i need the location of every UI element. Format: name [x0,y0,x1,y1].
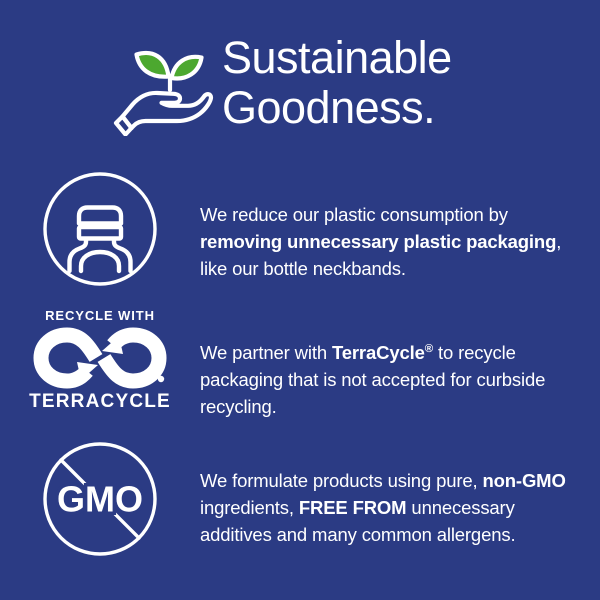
feature-row-non-gmo: GMO We formulate products using pure, no… [0,438,600,566]
header: Sustainable Goodness. [0,24,600,142]
row-icon-cell [0,168,200,288]
text-part: We partner with [200,342,332,363]
page-title: Sustainable Goodness. [222,33,452,133]
feature-text-terracycle: We partner with TerraCycle® to recycle p… [200,325,600,420]
text-part-bold: removing unnecessary plastic packaging [200,231,556,252]
row-icon-cell: RECYCLE WITH TERRACYCLE [0,306,200,412]
gmo-label: GMO [57,479,143,520]
text-part-bold: non-GMO [482,470,565,491]
terracycle-logo: RECYCLE WITH TERRACYCLE [25,308,175,412]
row-icon-cell: GMO [0,438,200,558]
text-part: We reduce our plastic consumption by [200,204,508,225]
no-gmo-icon: GMO [41,440,159,558]
sustainable-goodness-infographic: Sustainable Goodness. We reduce our pl [0,0,600,600]
feature-text-non-gmo: We formulate products using pure, non-GM… [200,457,600,548]
registered-mark: ® [425,342,433,354]
recycle-infinity-loop-icon [32,327,168,389]
text-part: We formulate products using pure, [200,470,482,491]
terracycle-top-label: RECYCLE WITH [45,308,155,323]
feature-row-plastic-reduction: We reduce our plastic consumption by rem… [0,168,600,300]
terracycle-wordmark: TERRACYCLE [29,391,171,412]
bottle-neckband-icon [41,170,159,288]
text-part-bold: FREE FROM [299,497,407,518]
feature-text-plastic-reduction: We reduce our plastic consumption by rem… [200,187,600,282]
text-part: ingredients, [200,497,299,518]
hand-holding-plant-icon [112,32,216,136]
feature-row-terracycle: RECYCLE WITH TERRACYCLE [0,306,600,438]
text-part-bold: TerraCycle [332,342,425,363]
